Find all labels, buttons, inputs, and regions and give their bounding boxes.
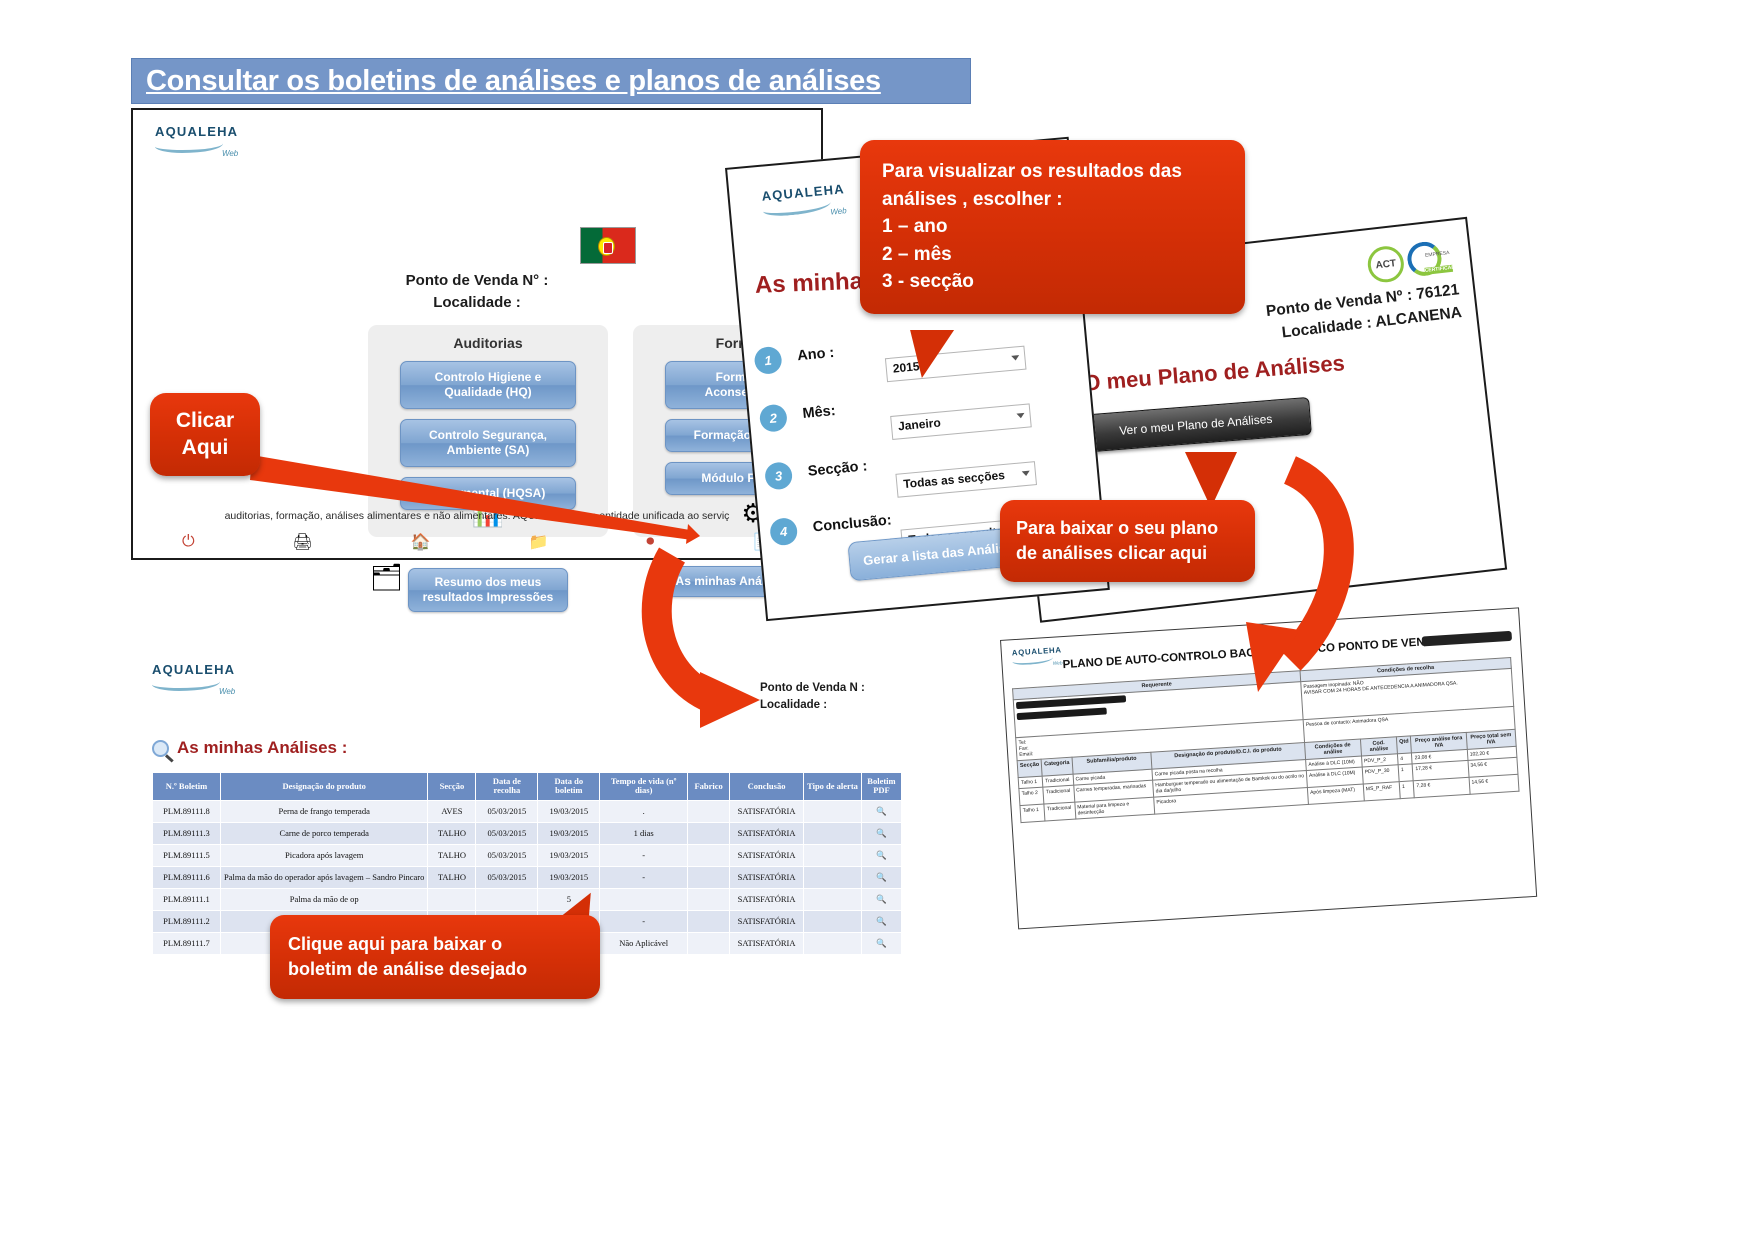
plano-cell-subfamilia: Material para limpeza e desinfecção [1074, 797, 1154, 819]
cell-alerta [804, 866, 862, 888]
select-seccao[interactable]: Todas as secções [895, 461, 1037, 498]
cell-produto: Perna de frango temperada [220, 800, 428, 822]
cell-recolha: 05/03/2015 [476, 844, 538, 866]
cell-alerta [804, 822, 862, 844]
cell-boletim-data: 19/03/2015 [538, 800, 600, 822]
panel1-footer-note: auditorias, formação, análises alimentar… [133, 510, 821, 522]
cell-conclusao: SATISFATÓRIA [730, 866, 804, 888]
cell-fabrico [688, 800, 730, 822]
aqualeha-logo-panel5: AQUALEHA Web [1012, 645, 1063, 668]
cell-seccao: TALHO [428, 822, 476, 844]
label-mes: Mês: [802, 403, 836, 422]
plano-cell-preco-tot: 14,56 € [1469, 774, 1519, 794]
cell-tempo: Não Aplicável [600, 932, 688, 954]
callout-visualizar-l5: 3 - secção [882, 268, 1223, 296]
record-icon[interactable]: ⏺ [646, 533, 654, 551]
cell-recolha [476, 888, 538, 910]
logo-wordmark: AQUALEHA [1012, 645, 1062, 657]
callout-visualizar-l4: 2 – mês [882, 241, 1223, 269]
group-auditorias-title: Auditorias [368, 335, 608, 351]
row-search-icon[interactable]: 🔍 [861, 932, 901, 954]
plano-cell-categoria: Tradicional [1044, 802, 1075, 821]
cell-recolha: 05/03/2015 [476, 866, 538, 888]
table-row: PLM.89111.8 Perna de frango temperada AV… [153, 800, 902, 822]
certificada-badge-icon: EMPRESA CERTIFICADA [1406, 239, 1454, 280]
certification-badges-panel3: ACT EMPRESA CERTIFICADA [1366, 239, 1454, 284]
step-badge-1: 1 [753, 346, 782, 375]
logo-wordmark: AQUALEHA [152, 662, 235, 677]
col-data-boletim: Data do boletim [538, 773, 600, 801]
callout-clicar-line2: Aqui [160, 434, 250, 461]
callout-clique-l1: Clique aqui para baixar o [288, 932, 582, 957]
cell-boletim-data: 19/03/2015 [538, 866, 600, 888]
chevron-down-icon [1011, 355, 1019, 361]
cell-conclusao: SATISFATÓRIA [730, 822, 804, 844]
print-icon[interactable]: 🖨 [292, 532, 312, 552]
cell-seccao [428, 888, 476, 910]
logo-subtext: Web [152, 687, 235, 696]
table-header-row: N.º Boletim Designação do produto Secção… [153, 773, 902, 801]
results-store-header: ⚘ Ponto de Venda N : Localidade : [760, 680, 865, 715]
callout-clicar-aqui: Clicar Aqui [150, 393, 260, 476]
group-auditorias: Auditorias Controlo Higiene e Qualidade … [368, 325, 608, 537]
cell-alerta [804, 910, 862, 932]
step-badge-3: 3 [764, 461, 793, 490]
cell-fabrico [688, 910, 730, 932]
panel1-taskbar: ⏻ 🖨 🏠 📁 ⏺ 📄 [133, 528, 821, 556]
folder-alert-icon: 🗂 [370, 562, 403, 593]
plano-cell-seccao: Talho 1 [1020, 804, 1045, 822]
cell-seccao: TALHO [428, 866, 476, 888]
plano-pdf-document: AQUALEHA Web PLANO DE AUTO-CONTROLO BACT… [1000, 607, 1537, 929]
callout-clique-baixar-boletim: Clique aqui para baixar o boletim de aná… [270, 915, 600, 999]
cell-conclusao: SATISFATÓRIA [730, 844, 804, 866]
callout-visualizar-resultados: Para visualizar os resultados das anális… [860, 140, 1245, 314]
cell-produto: Picadora após lavagem [220, 844, 428, 866]
callout-baixar-l2: de análises clicar aqui [1016, 541, 1239, 566]
col-n-boletim: N.º Boletim [153, 773, 221, 801]
cell-fabrico [688, 822, 730, 844]
cell-alerta [804, 888, 862, 910]
cell-fabrico [688, 844, 730, 866]
label-seccao: Secção : [807, 458, 868, 479]
cell-conclusao: SATISFATÓRIA [730, 888, 804, 910]
step-badge-4: 4 [769, 517, 798, 546]
plano-cell-qtd: 1 [1398, 764, 1414, 782]
logo-subtext: Web [155, 149, 238, 158]
cell-boletim-data: 19/03/2015 [538, 822, 600, 844]
table-row: PLM.89111.1 Palma da mão de op 5 SATISFA… [153, 888, 902, 910]
plano-col-categoria: Categoria [1041, 757, 1072, 776]
table-row: PLM.89111.5 Picadora após lavagem TALHO … [153, 844, 902, 866]
plano-cell-categoria: Tradicional [1043, 785, 1074, 804]
cell-boletim: PLM.89111.6 [153, 866, 221, 888]
select-mes[interactable]: Janeiro [890, 403, 1032, 440]
aqualeha-logo-panel4: AQUALEHA Web [152, 662, 235, 696]
panel3-store-header: Ponto de Venda Nº : 76121 Localidade : A… [1265, 278, 1463, 346]
cell-boletim-data: 19/03/2015 [538, 844, 600, 866]
btn-controlo-higiene[interactable]: Controlo Higiene e Qualidade (HQ) [400, 361, 576, 409]
row-search-icon[interactable]: 🔍 [861, 844, 901, 866]
table-row: PLM.89111.6 Palma da mão do operador apó… [153, 866, 902, 888]
col-tipo-alerta: Tipo de alerta [804, 773, 862, 801]
aqualeha-logo-panel2: AQUALEHA Web [761, 181, 847, 222]
results-localidade: Localidade : [760, 697, 865, 714]
row-search-icon[interactable]: 🔍 [861, 910, 901, 932]
row-search-icon[interactable]: 🔍 [861, 822, 901, 844]
col-tempo-vida: Tempo de vida (nº dias) [600, 773, 688, 801]
label-conclusao: Conclusão: [812, 512, 892, 535]
cell-boletim: PLM.89111.3 [153, 822, 221, 844]
cell-produto: Palma da mão do operador após lavagem – … [220, 866, 428, 888]
logo-wordmark: AQUALEHA [155, 124, 238, 139]
callout-visualizar-l1: Para visualizar os resultados das [882, 158, 1223, 186]
redacted-store-name [1422, 631, 1512, 647]
cell-seccao: AVES [428, 800, 476, 822]
home-icon[interactable]: 🏠 [411, 532, 431, 552]
cell-tempo: - [600, 844, 688, 866]
slide-title-banner: Consultar os boletins de análises e plan… [131, 58, 971, 104]
btn-ver-plano-analises[interactable]: Ver o meu Plano de Análises [1080, 397, 1312, 453]
label-ano: Ano : [797, 345, 835, 364]
cell-boletim: PLM.89111.2 [153, 910, 221, 932]
cell-fabrico [688, 866, 730, 888]
cell-fabrico [688, 888, 730, 910]
row-search-icon[interactable]: 🔍 [861, 866, 901, 888]
select-seccao-value: Todas as secções [903, 468, 1006, 491]
plano-cell-qtd: 1 [1399, 781, 1415, 799]
select-mes-value: Janeiro [897, 416, 941, 434]
results-title: As minhas Análises : [177, 738, 347, 758]
power-icon[interactable]: ⏻ [182, 533, 195, 551]
cell-alerta [804, 800, 862, 822]
callout-baixar-plano: Para baixar o seu plano de análises clic… [1000, 500, 1255, 582]
folder-icon[interactable]: 📁 [528, 532, 548, 552]
row-search-icon[interactable]: 🔍 [861, 888, 901, 910]
cell-conclusao: SATISFATÓRIA [730, 910, 804, 932]
cell-boletim: PLM.89111.8 [153, 800, 221, 822]
cell-tempo: - [600, 910, 688, 932]
callout-visualizar-l2: análises , escolher : [882, 186, 1223, 214]
cell-fabrico [688, 932, 730, 954]
table-row: PLM.89111.3 Carne de porco temperada TAL… [153, 822, 902, 844]
callout-clique-l2: boletim de análise desejado [288, 957, 582, 982]
step-badge-2: 2 [759, 403, 788, 432]
aqualeha-logo: AQUALEHA Web [155, 124, 238, 158]
col-boletim-pdf: Boletim PDF [861, 773, 901, 801]
plano-title: O meu Plano de Análises [1049, 348, 1380, 400]
page-title: Consultar os boletins de análises e plan… [138, 65, 881, 98]
col-seccao: Secção [428, 773, 476, 801]
cell-recolha: 05/03/2015 [476, 800, 538, 822]
cell-alerta [804, 932, 862, 954]
chevron-down-icon [1022, 471, 1030, 477]
cell-tempo: - [600, 866, 688, 888]
cell-tempo [600, 888, 688, 910]
plano-cell-seccao: Talho 2 [1019, 787, 1044, 805]
cell-alerta [804, 844, 862, 866]
results-ponto-venda: Ponto de Venda N : [760, 680, 865, 697]
cell-tempo: 1 dias [600, 822, 688, 844]
cell-seccao: TALHO [428, 844, 476, 866]
plano-cell-cod: MS_P_RAF [1363, 782, 1400, 801]
plano-cell-preco-unit: 7,28 € [1414, 777, 1470, 797]
cell-tempo: . [600, 800, 688, 822]
btn-controlo-seguranca[interactable]: Controlo Segurança, Ambiente (SA) [400, 419, 576, 467]
magnifier-icon [152, 740, 169, 757]
portugal-flag-icon [580, 227, 636, 264]
callout-clicar-line1: Clicar [160, 407, 250, 434]
cell-boletim: PLM.89111.7 [153, 932, 221, 954]
col-designacao: Designação do produto [220, 773, 428, 801]
plano-cell-condicoes: Após limpeza (MAT) [1307, 784, 1364, 804]
results-title-row: As minhas Análises : [152, 738, 347, 758]
cell-recolha: 05/03/2015 [476, 822, 538, 844]
col-conclusao: Conclusão [730, 773, 804, 801]
act-badge-icon: ACT [1366, 244, 1406, 284]
col-fabrico: Fabrico [688, 773, 730, 801]
cell-conclusao: SATISFATÓRIA [730, 800, 804, 822]
cell-boletim: PLM.89111.1 [153, 888, 221, 910]
cell-conclusao: SATISFATÓRIA [730, 932, 804, 954]
plano-col-seccao: Secção [1017, 759, 1042, 777]
cell-boletim: PLM.89111.5 [153, 844, 221, 866]
callout-baixar-l1: Para baixar o seu plano [1016, 516, 1239, 541]
cell-produto: Palma da mão de op [220, 888, 428, 910]
btn-resumo-impressoes[interactable]: Resumo dos meus resultados Impressões [408, 568, 568, 612]
portal-home-window: AQUALEHA Web ACT EMPRESA CERTIFICADA Pon… [131, 108, 823, 560]
chevron-down-icon [1016, 413, 1024, 419]
plano-col-qtd: Qtd [1396, 736, 1412, 754]
callout-visualizar-l3: 1 – ano [882, 213, 1223, 241]
col-data-recolha: Data de recolha [476, 773, 538, 801]
cell-produto: Carne de porco temperada [220, 822, 428, 844]
plano-pdf-table: Requerente Condições de recolha Passagem… [1012, 657, 1519, 823]
row-search-icon[interactable]: 🔍 [861, 800, 901, 822]
